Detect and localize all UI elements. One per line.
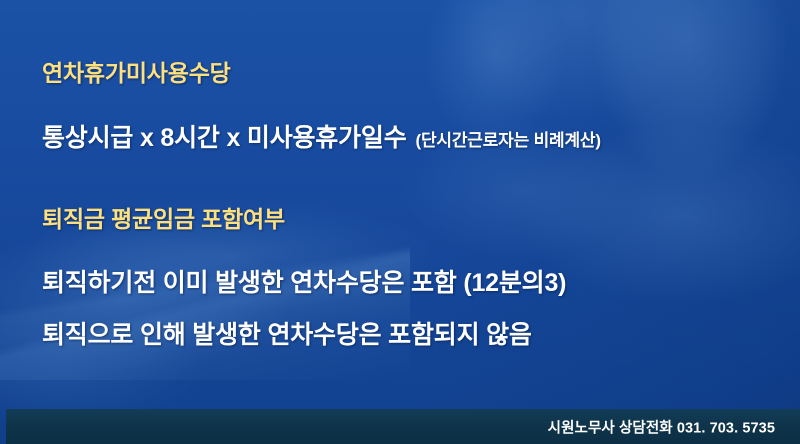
footer-bar: 시원노무사 상담전화 031. 703. 5735	[6, 409, 800, 444]
formula-note: (단시간근로자는 비례계산)	[416, 131, 601, 150]
severance-included-line: 퇴직하기전 이미 발생한 연차수당은 포함 (12분의3)	[42, 263, 566, 299]
severance-excluded-line: 퇴직으로 인해 발생한 연차수당은 포함되지 않음	[42, 315, 532, 351]
slide-canvas: 연차휴가미사용수당 통상시급 x 8시간 x 미사용휴가일수(단시간근로자는 비…	[0, 0, 800, 444]
section-heading-severance-average-wage: 퇴직금 평균임금 포함여부	[42, 200, 285, 234]
formula-text: 통상시급 x 8시간 x 미사용휴가일수	[42, 124, 407, 152]
section-heading-annual-leave-allowance: 연차휴가미사용수당	[42, 54, 231, 88]
content-area: 연차휴가미사용수당 통상시급 x 8시간 x 미사용휴가일수(단시간근로자는 비…	[0, 0, 800, 409]
footer-contact-text: 시원노무사 상담전화 031. 703. 5735	[548, 416, 775, 437]
formula-line: 통상시급 x 8시간 x 미사용휴가일수(단시간근로자는 비례계산)	[42, 118, 601, 154]
